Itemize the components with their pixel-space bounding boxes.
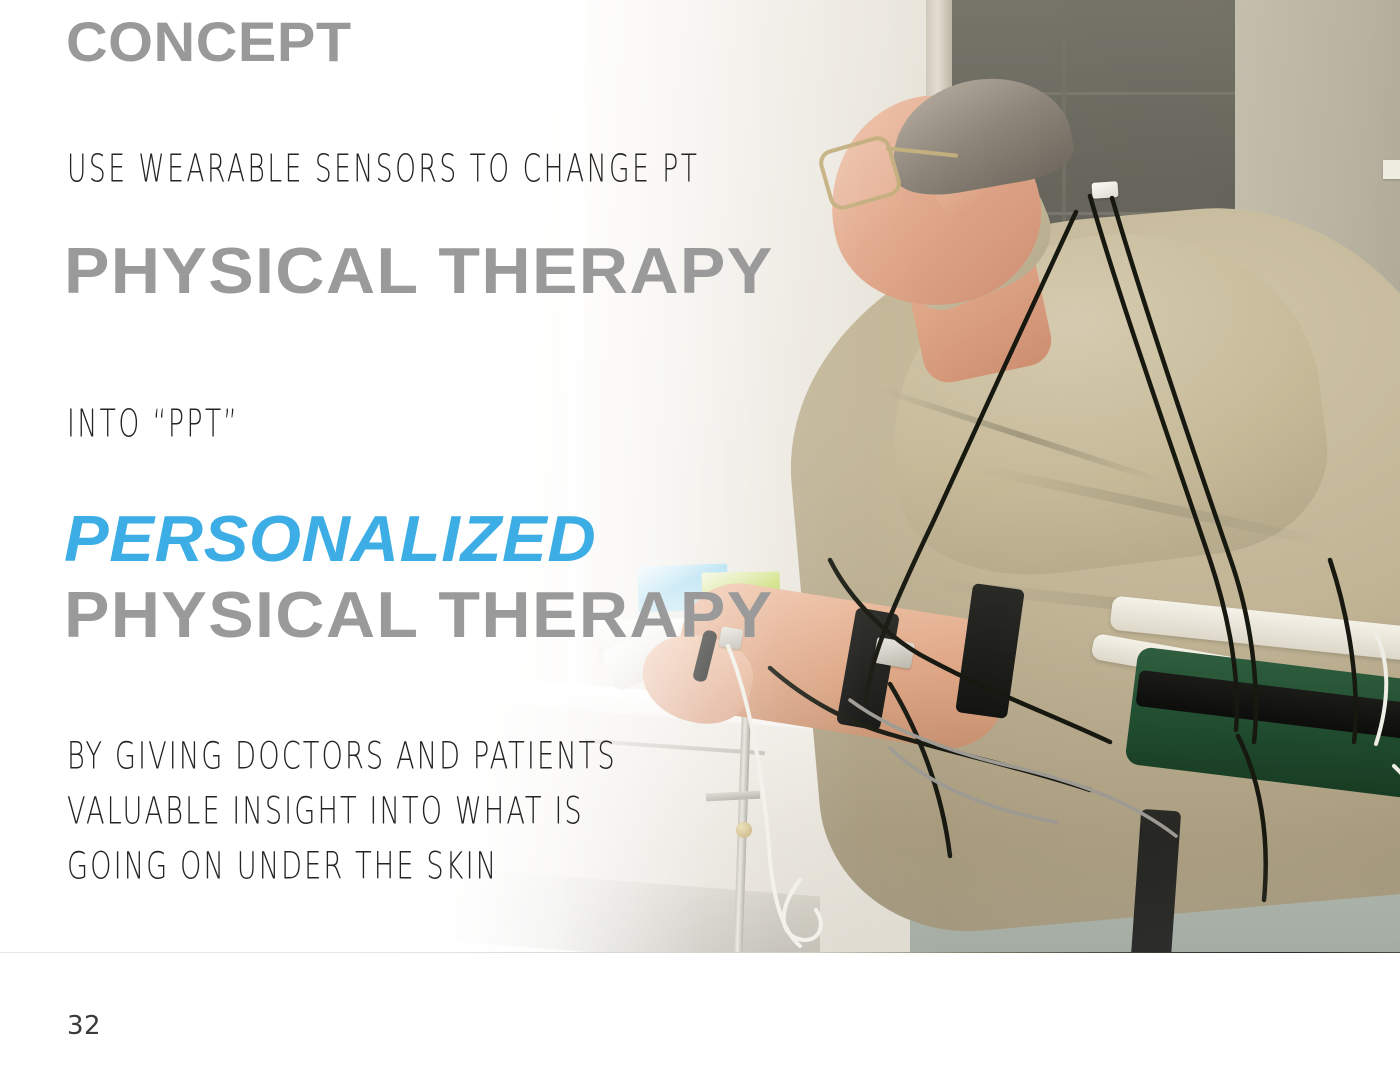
body-line-2: VALUABLE INSIGHT INTO WHAT IS xyxy=(67,784,617,839)
heading-physical-therapy-top: PHYSICAL THERAPY xyxy=(64,235,774,309)
footer-divider xyxy=(0,952,1400,953)
page-number: 32 xyxy=(67,1011,101,1041)
slide-text-layer: CONCEPT USE WEARABLE SENSORS TO CHANGE P… xyxy=(0,0,1400,1082)
body-paragraph: BY GIVING DOCTORS AND PATIENTS VALUABLE … xyxy=(67,729,617,894)
page-title: CONCEPT xyxy=(66,9,352,74)
subtitle-use-wearable-sensors: USE WEARABLE SENSORS TO CHANGE PT xyxy=(67,147,699,192)
heading-physical-therapy-bottom: PHYSICAL THERAPY xyxy=(64,579,774,653)
subtitle-into-ppt: INTO “PPT” xyxy=(67,402,239,447)
body-line-3: GOING ON UNDER THE SKIN xyxy=(67,839,617,894)
slide-concept: Ch 1 Ch 2 Ch 3 Ch 4 xyxy=(0,0,1400,1082)
body-line-1: BY GIVING DOCTORS AND PATIENTS xyxy=(67,729,617,784)
heading-personalized: PERSONALIZED xyxy=(64,503,596,577)
